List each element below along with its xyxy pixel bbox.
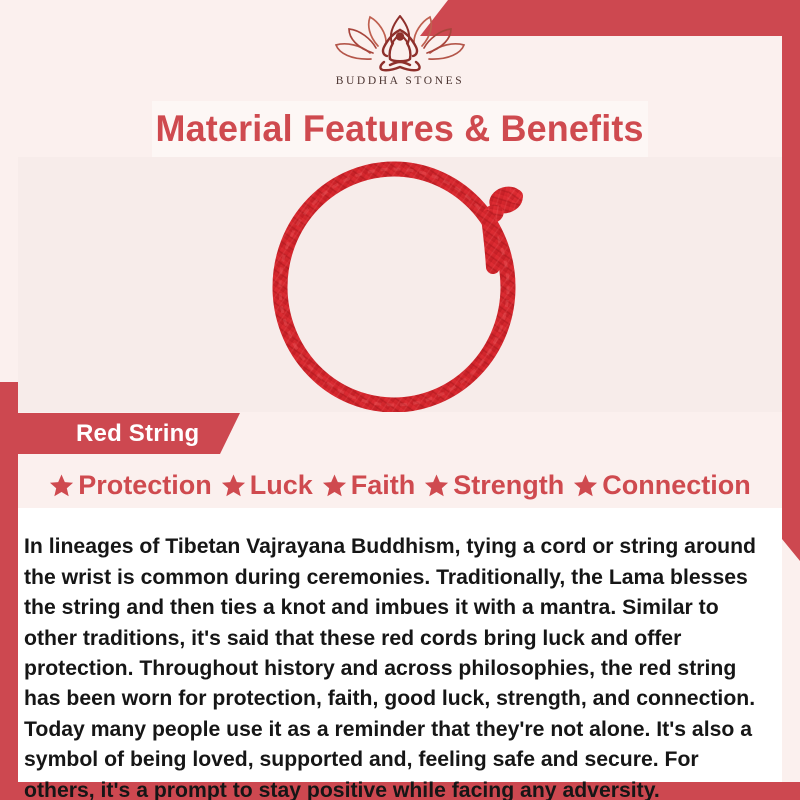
right-red-border <box>782 36 800 561</box>
material-name: Red String <box>76 420 199 448</box>
left-red-notch <box>0 382 18 408</box>
benefit-connection: Connection <box>573 470 751 501</box>
red-braided-cord-bracelet-icon <box>234 159 564 412</box>
brand-logo: BUDDHA STONES <box>331 12 469 87</box>
benefits-list: Protection Luck Faith Strength Connectio… <box>18 463 782 508</box>
benefit-label: Faith <box>351 470 416 501</box>
benefit-label: Connection <box>602 470 751 501</box>
lotus-meditation-icon <box>331 12 469 74</box>
brand-header: BUDDHA STONES <box>0 0 800 108</box>
infographic-page: BUDDHA STONES Material Features & Benefi… <box>0 0 800 800</box>
benefit-faith: Faith <box>322 470 416 501</box>
star-icon <box>573 473 598 498</box>
brand-name: BUDDHA STONES <box>336 75 464 87</box>
star-icon <box>424 473 449 498</box>
benefit-label: Protection <box>78 470 212 501</box>
description-panel: In lineages of Tibetan Vajrayana Buddhis… <box>18 508 782 782</box>
star-icon <box>221 473 246 498</box>
star-icon <box>49 473 74 498</box>
left-red-border <box>0 382 18 800</box>
benefit-protection: Protection <box>49 470 212 501</box>
page-title: Material Features & Benefits <box>156 108 644 150</box>
material-ribbon: Red String <box>18 413 240 454</box>
page-title-band: Material Features & Benefits <box>152 101 648 157</box>
benefit-luck: Luck <box>221 470 313 501</box>
description-text: In lineages of Tibetan Vajrayana Buddhis… <box>24 531 772 800</box>
benefit-label: Strength <box>453 470 564 501</box>
benefit-label: Luck <box>250 470 313 501</box>
benefit-strength: Strength <box>424 470 564 501</box>
star-icon <box>322 473 347 498</box>
product-hero <box>18 157 782 412</box>
